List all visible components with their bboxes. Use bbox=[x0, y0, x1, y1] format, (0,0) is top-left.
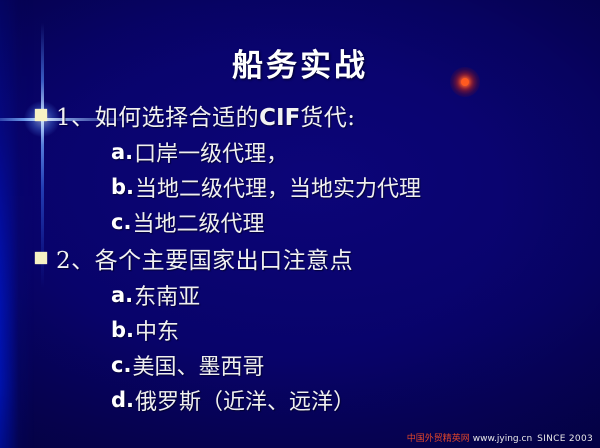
sub-item-1c: c. 当地二级代理 bbox=[0, 204, 600, 239]
sub-item-text: 当地二级代理 bbox=[132, 206, 264, 238]
bullet-1-number: 1、 bbox=[56, 105, 95, 131]
sub-item-text: 俄罗斯（近洋、远洋） bbox=[135, 384, 355, 416]
bullet-1-heading-post: 货代: bbox=[300, 105, 355, 131]
footer-site-name: 中国外贸精英网 bbox=[407, 431, 470, 444]
sub-item-marker: a. bbox=[111, 140, 133, 164]
slide-title: 船务实战 bbox=[0, 40, 600, 85]
sub-item-2c: c. 美国、墨西哥 bbox=[0, 347, 600, 382]
bullet-2-heading-pre: 各个主要国家出口注意点 bbox=[95, 248, 354, 274]
sub-item-marker: c. bbox=[111, 210, 131, 234]
bullet-line-1: 1、如何选择合适的CIF货代: bbox=[0, 96, 600, 134]
sub-item-marker: b. bbox=[111, 318, 134, 342]
slide-body: 1、如何选择合适的CIF货代: a. 口岸一级代理， b. 当地二级代理，当地实… bbox=[0, 96, 600, 417]
sub-item-marker: d. bbox=[111, 388, 134, 412]
sub-item-2b: b. 中东 bbox=[0, 312, 600, 347]
presentation-slide: 船务实战 1、如何选择合适的CIF货代: a. 口岸一级代理， b. 当地二级代… bbox=[0, 0, 600, 448]
square-bullet-icon bbox=[35, 252, 47, 264]
sub-item-text: 口岸一级代理， bbox=[134, 136, 288, 168]
sub-item-marker: b. bbox=[111, 175, 134, 199]
bullet-line-2: 2、各个主要国家出口注意点 bbox=[0, 239, 600, 277]
sub-item-2d: d. 俄罗斯（近洋、远洋） bbox=[0, 382, 600, 417]
bullet-1-text: 1、如何选择合适的CIF货代: bbox=[56, 98, 356, 132]
footer-watermark: 中国外贸精英网 www.jying.cn SINCE 2003 bbox=[407, 431, 593, 444]
bullet-1-heading-pre: 如何选择合适的 bbox=[95, 105, 260, 131]
bullet-1-heading-emphasis: CIF bbox=[259, 105, 300, 131]
sub-item-marker: a. bbox=[111, 283, 133, 307]
bullet-2-text: 2、各个主要国家出口注意点 bbox=[56, 241, 353, 275]
footer-since: SINCE 2003 bbox=[537, 434, 593, 444]
sub-item-text: 美国、墨西哥 bbox=[132, 349, 264, 381]
sub-item-text: 中东 bbox=[135, 314, 179, 346]
sub-item-2a: a. 东南亚 bbox=[0, 277, 600, 312]
bullet-2-number: 2、 bbox=[56, 248, 95, 274]
sub-item-marker: c. bbox=[111, 353, 131, 377]
sub-item-text: 东南亚 bbox=[134, 279, 200, 311]
footer-url: www.jying.cn bbox=[473, 434, 532, 444]
square-bullet-icon bbox=[35, 109, 47, 121]
sub-item-1b: b. 当地二级代理，当地实力代理 bbox=[0, 169, 600, 204]
sub-item-1a: a. 口岸一级代理， bbox=[0, 134, 600, 169]
sub-item-text: 当地二级代理，当地实力代理 bbox=[135, 171, 421, 203]
